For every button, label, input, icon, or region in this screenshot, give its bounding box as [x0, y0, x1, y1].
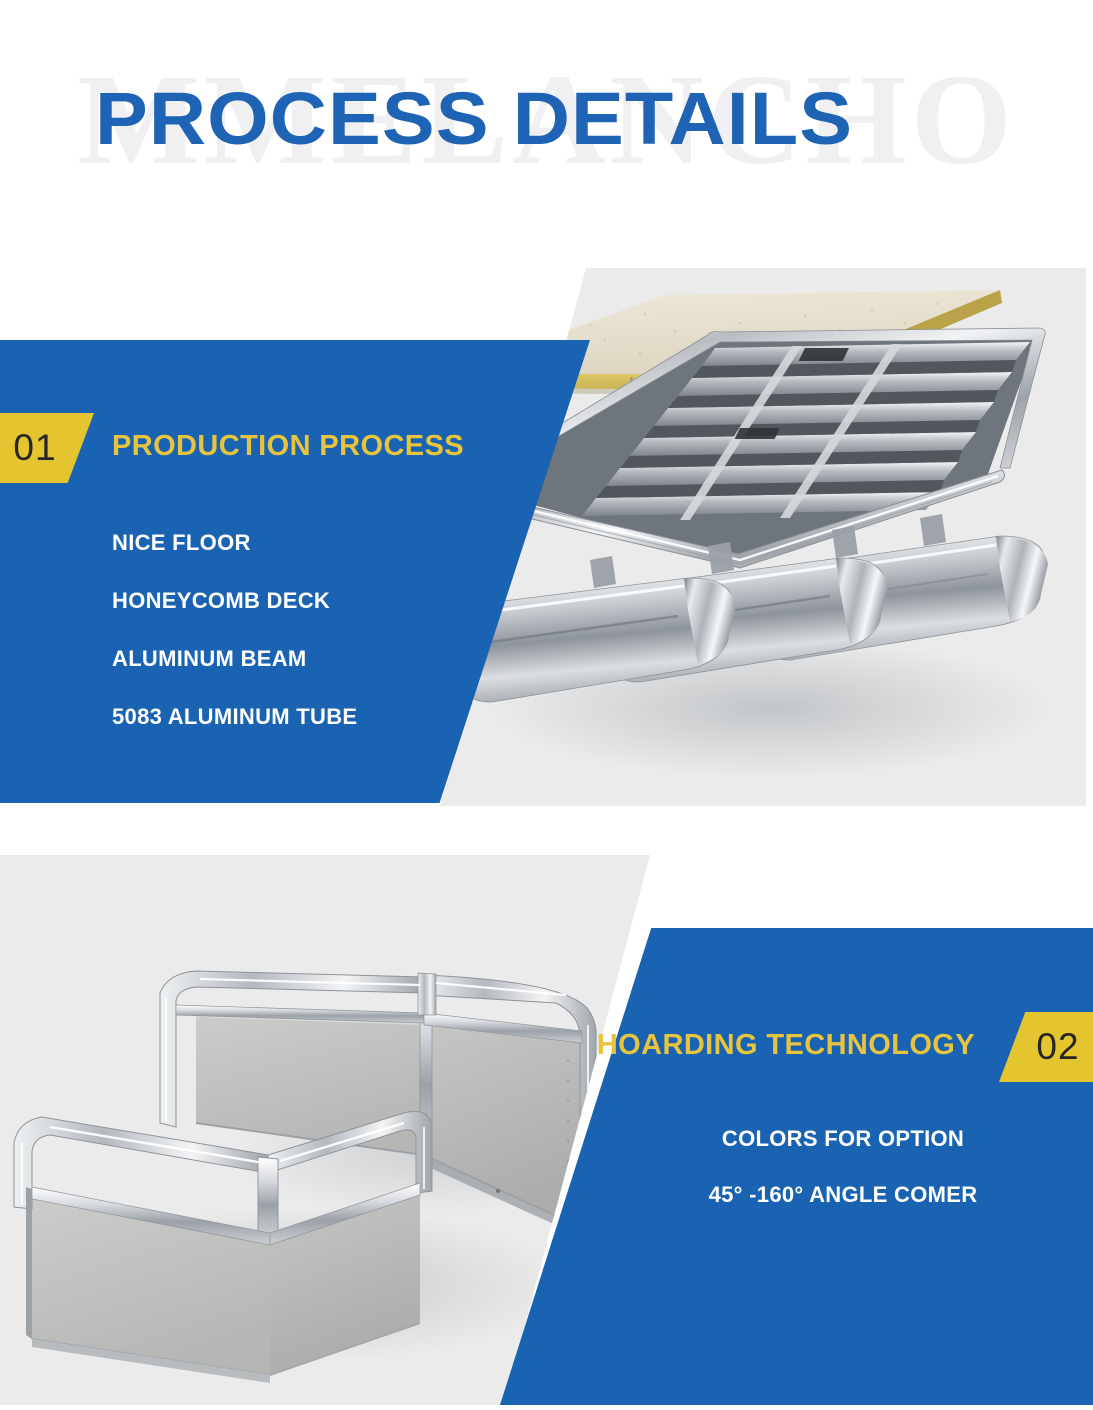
- list-item: COLORS FOR OPTION: [623, 1128, 1063, 1150]
- section-hoarding-technology: 02 HOARDING TECHNOLOGY COLORS FOR OPTION…: [0, 0, 1093, 1410]
- hoarding-technology-feature-list: COLORS FOR OPTION 45° -160° ANGLE COMER: [623, 1128, 1063, 1240]
- list-item: 45° -160° ANGLE COMER: [623, 1184, 1063, 1206]
- process-details-page: MMELANCHO PROCESS DETAILS: [0, 0, 1093, 1410]
- section-title-hoarding-technology: HOARDING TECHNOLOGY: [597, 1031, 975, 1060]
